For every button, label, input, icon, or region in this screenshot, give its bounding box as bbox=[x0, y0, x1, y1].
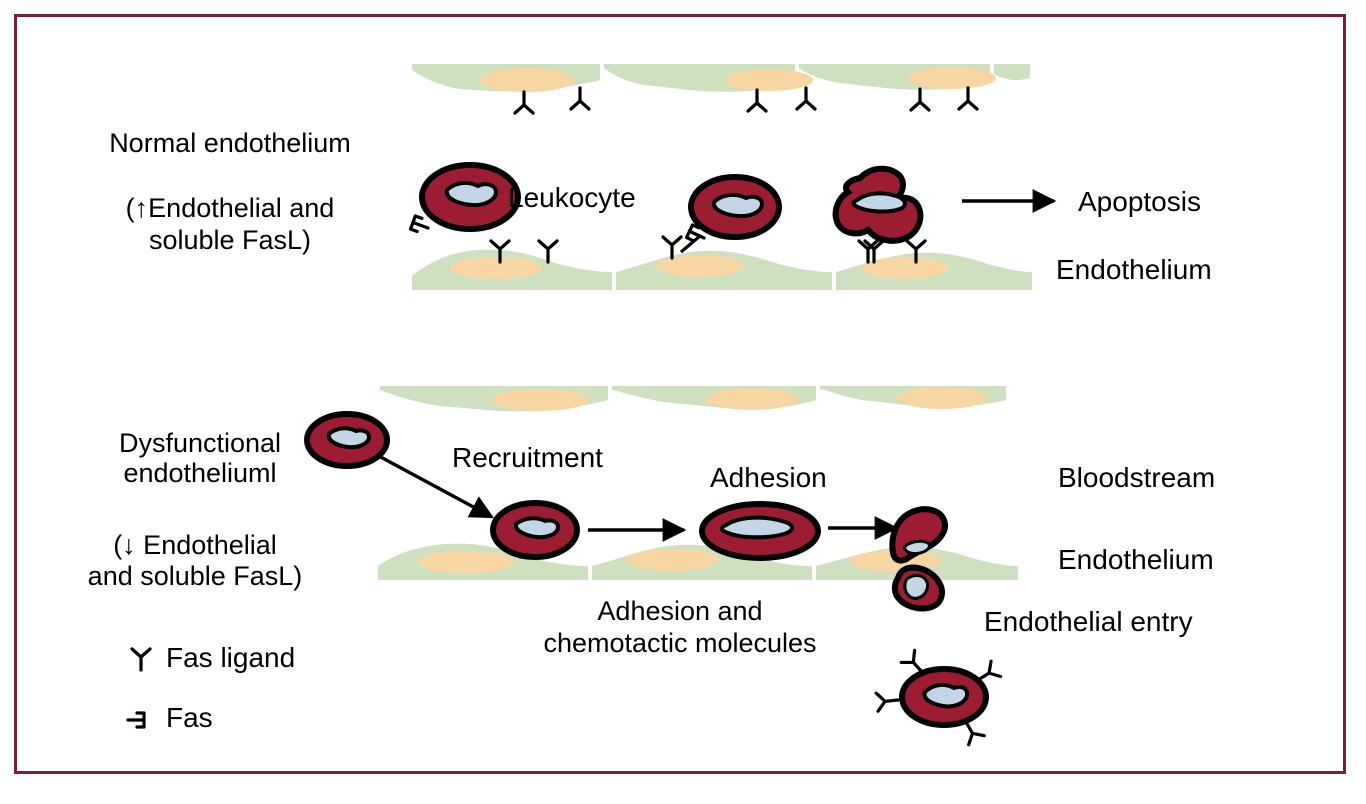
fas-ligand-icon bbox=[876, 691, 899, 711]
fas-ligand-icon bbox=[571, 88, 589, 109]
label-endothelium-top: Endothelium bbox=[1056, 254, 1212, 286]
label-normal-fasl-note-line1: (↑Endothelial and bbox=[60, 193, 400, 224]
legend-fas-ligand-icon bbox=[132, 649, 150, 670]
label-dysfunctional-fasl-note-line2: and soluble FasL) bbox=[45, 561, 345, 592]
leukocyte-engaging-fasl bbox=[681, 177, 779, 252]
label-adhesion-chemo-line1: Adhesion and bbox=[520, 596, 840, 627]
legend-fas-receptor-icon bbox=[128, 713, 144, 727]
top-panel-lower-endothelium-band bbox=[412, 237, 1032, 290]
top-panel-upper-endothelium-band bbox=[412, 64, 1030, 113]
label-recruitment: Recruitment bbox=[452, 442, 603, 474]
label-endothelial-entry: Endothelial entry bbox=[984, 606, 1193, 638]
label-normal-endothelium: Normal endothelium bbox=[60, 128, 400, 159]
label-adhesion-chemo-line2: chemotactic molecules bbox=[520, 628, 840, 659]
legend-label-fas-ligand: Fas ligand bbox=[166, 642, 295, 674]
leukocyte-apoptotic bbox=[836, 169, 921, 262]
figure-root: Normal endothelium (↑Endothelial and sol… bbox=[0, 0, 1366, 804]
diagram-canvas bbox=[0, 0, 1366, 804]
label-apoptosis: Apoptosis bbox=[1078, 186, 1201, 218]
bottom-panel-upper-endothelium-band bbox=[380, 386, 1006, 411]
fas-ligand-icon bbox=[911, 89, 929, 110]
label-leukocyte: Leukocyte bbox=[508, 182, 636, 214]
fas-receptor-icon bbox=[411, 216, 431, 235]
leukocyte-extravasated-fasl bbox=[876, 650, 1000, 744]
label-dysfunctional-fasl-note-line1: (↓ Endothelial bbox=[45, 530, 345, 561]
label-normal-fasl-note-line2: soluble FasL) bbox=[60, 225, 400, 256]
label-endothelium-bottom: Endothelium bbox=[1058, 544, 1214, 576]
fas-ligand-icon bbox=[515, 92, 533, 113]
fas-ligand-icon bbox=[959, 88, 977, 109]
label-dysfunctional-line1: Dysfunctional bbox=[55, 428, 345, 459]
label-dysfunctional-line2: endotheliuml bbox=[55, 458, 345, 489]
label-adhesion: Adhesion bbox=[710, 462, 827, 494]
leukocyte-recruited bbox=[493, 503, 577, 557]
fas-ligand-icon bbox=[748, 90, 766, 111]
fas-ligand-icon bbox=[797, 88, 815, 109]
leukocyte-transmigrating-lower bbox=[895, 567, 942, 608]
leukocyte-adhered bbox=[702, 504, 818, 558]
label-bloodstream: Bloodstream bbox=[1058, 462, 1215, 494]
leukocyte-rolling bbox=[411, 165, 518, 235]
legend-label-fas: Fas bbox=[166, 702, 213, 734]
